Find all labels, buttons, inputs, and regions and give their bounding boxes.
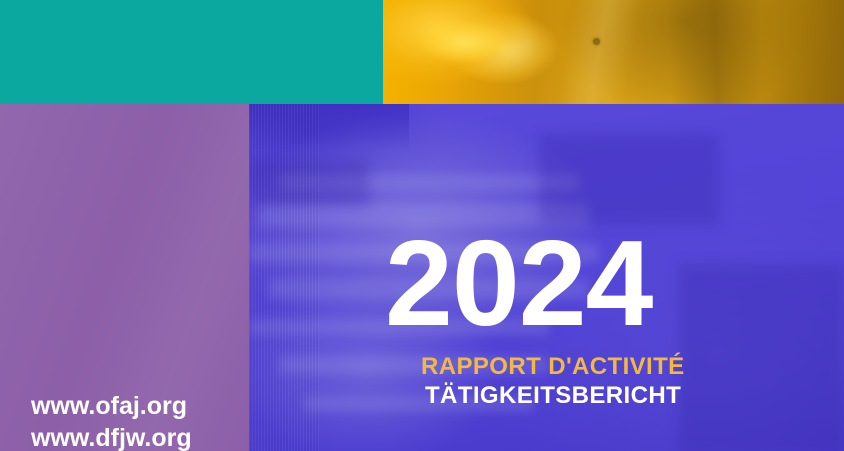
blue-photo-vertical-texture — [249, 104, 319, 451]
cover-subtitle-german: TÄTIGKEITSBERICHT — [425, 384, 681, 408]
blue-photo-shade — [679, 264, 844, 451]
teal-color-block — [0, 0, 383, 104]
cover-subtitle-french: RAPPORT D'ACTIVITÉ — [421, 355, 685, 379]
gold-photo-shirt-button — [593, 38, 600, 45]
gold-duotone-photo — [383, 0, 844, 104]
report-cover: 2024 RAPPORT D'ACTIVITÉ TÄTIGKEITSBERICH… — [0, 0, 844, 451]
website-urls: www.ofaj.org www.dfjw.org — [31, 390, 192, 451]
url-ofaj[interactable]: www.ofaj.org — [31, 390, 192, 422]
gold-photo-right-shadow — [724, 0, 844, 104]
url-dfjw[interactable]: www.dfjw.org — [31, 422, 192, 451]
cover-year: 2024 — [385, 222, 652, 344]
blue-photo-shade — [539, 134, 719, 224]
